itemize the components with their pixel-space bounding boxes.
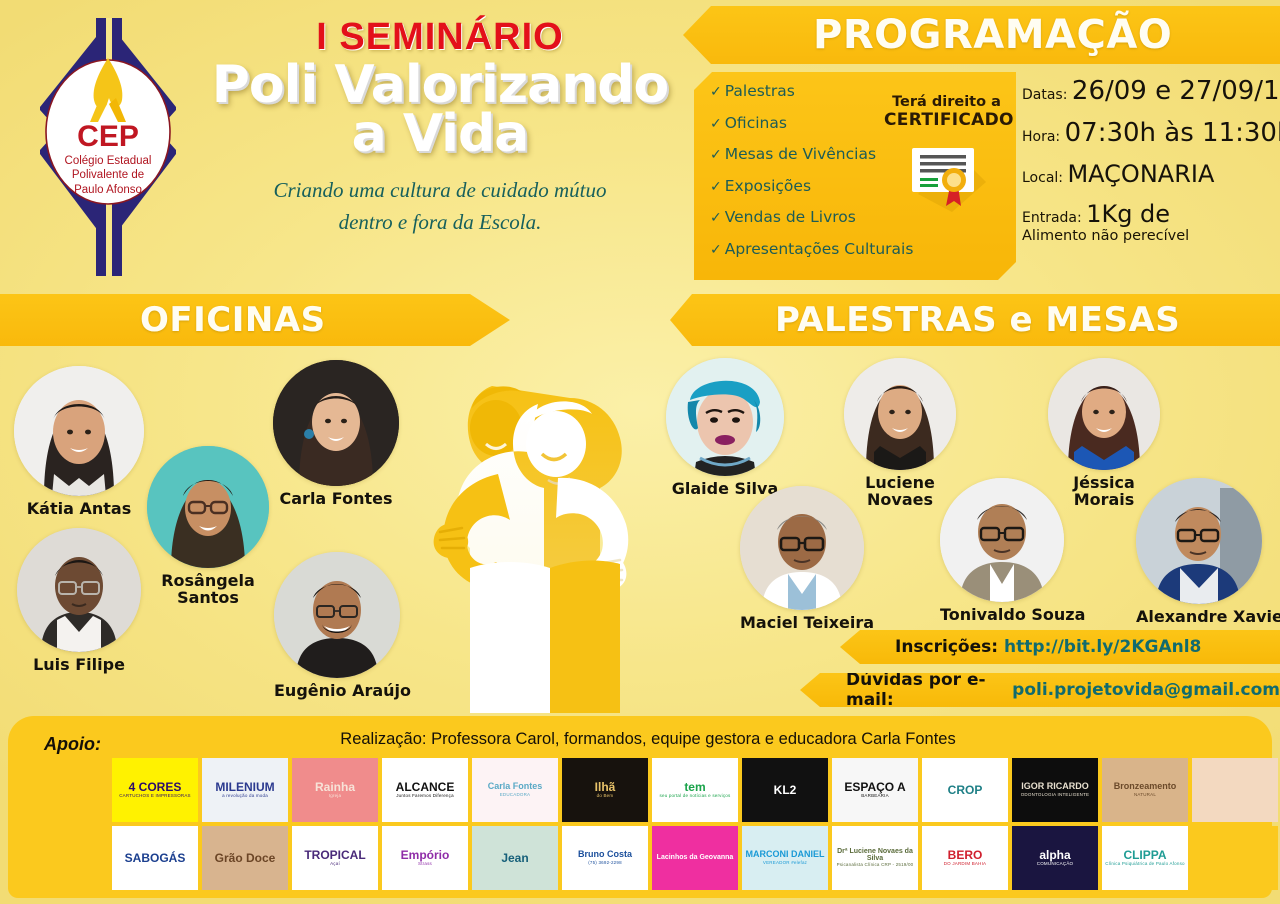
sponsor-logo-sub: Igreja [315, 794, 355, 799]
sponsor-logo-name: Lacinhos da Geovanna [655, 852, 736, 863]
sponsor-logo-sub: seu portal de notícias e serviços [660, 794, 731, 799]
sponsor-logo-sub: Clínica Psiquiátrica de Paulo Afonso [1105, 862, 1185, 867]
title-line-2: a Vida [200, 110, 680, 159]
detail-value: 07:30h às 11:30h [1065, 118, 1280, 148]
list-item-label: Apresentações Culturais [725, 240, 914, 258]
sponsor-logo-name: CLIPPAClínica Psiquiátrica de Paulo Afon… [1103, 847, 1187, 869]
email-link[interactable]: poli.projetovida@gmail.com [1012, 680, 1280, 700]
certificate-line-2: CERTIFICADO [884, 110, 1009, 130]
sponsor-logo: RainhaIgreja [292, 758, 378, 822]
banner-programacao-label: PROGRAMAÇÃO [813, 12, 1172, 58]
event-details: Datas: 26/09 e 27/09/19 Hora: 07:30h às … [1022, 78, 1280, 260]
detail-label: Hora: [1022, 129, 1060, 145]
detail-row-entrada: Entrada: 1Kg de Alimento não perecível [1022, 202, 1280, 244]
person-alexandre-xavier: Alexandre Xavier [1136, 478, 1262, 626]
realizacao-text: Realização: Professora Carol, formandos,… [298, 730, 998, 749]
avatar [740, 486, 864, 610]
person-name: Alexandre Xavier [1136, 609, 1262, 626]
sponsor-logo: IGOR RICARDOODONTOLOGIA INTELIGENTE [1012, 758, 1098, 822]
avatar [274, 552, 400, 678]
sponsor-logo-name: ESPAÇO ABARBEARIA [842, 779, 907, 801]
cep-logo: CEP Colégio Estadual Polivalente de Paul… [8, 12, 208, 280]
list-item-label: Vendas de Livros [725, 208, 856, 226]
check-icon: ✓ [710, 210, 722, 226]
sponsor-logo-name: BronzeamentoNATURAL [1112, 780, 1179, 799]
sponsor-logo-name: Drª Luciene Novaes da SilvaPsicanalista … [832, 846, 918, 870]
list-item: ✓Vendas de Livros [710, 210, 925, 226]
sponsor-logo: SABOGÁS [112, 826, 198, 890]
detail-label: Datas: [1022, 87, 1067, 103]
sponsor-logo: Carla FontesEDUCADORA [472, 758, 558, 822]
poster-root: CEP Colégio Estadual Polivalente de Paul… [0, 0, 1280, 904]
sponsor-logo-name: IGOR RICARDOODONTOLOGIA INTELIGENTE [1019, 780, 1092, 799]
sponsor-logo-sub: DO JARDIM BAHIA [944, 862, 987, 867]
sponsor-logo: BronzeamentoNATURAL [1102, 758, 1188, 822]
sponsor-logo: 4 CORESCARTUCHOS E IMPRESSORAS [112, 758, 198, 822]
person-name: Rosângela Santos [147, 573, 269, 607]
email-bar[interactable]: Dúvidas por e-mail: poli.projetovida@gma… [800, 673, 1280, 707]
avatar [14, 366, 144, 496]
sponsor-logo-sub: COMUNICAÇÃO [1037, 862, 1073, 867]
person-maciel-teixeira: Maciel Teixeira [740, 486, 864, 632]
person-name: Luis Filipe [17, 657, 141, 674]
sponsor-logo: CLIPPAClínica Psiquiátrica de Paulo Afon… [1102, 826, 1188, 890]
sponsor-logo-sub: EDUCADORA [488, 793, 543, 798]
check-icon: ✓ [710, 147, 722, 163]
inscricoes-label: Inscrições: [895, 637, 998, 657]
tagline: Criando uma cultura de cuidado mútuo den… [200, 174, 680, 239]
sponsor-logo: KL2 [742, 758, 828, 822]
sponsor-logo: Jean [472, 826, 558, 890]
sponsor-logo-name: TROPICALAçaí [302, 847, 367, 869]
detail-value: 1Kg de [1086, 200, 1170, 228]
sponsor-logo-sub: VEREADOR #elefaz [746, 861, 825, 866]
sponsor-logo-name: SABOGÁS [123, 850, 188, 867]
person-glaide-silva: Glaide Silva [666, 358, 784, 498]
pretitle: I SEMINÁRIO [200, 16, 680, 59]
sponsor-logo-name: Ilhãdo Bem [593, 779, 618, 801]
list-item-label: Mesas de Vivências [725, 145, 876, 163]
sponsor-logo-name: KL2 [772, 782, 799, 799]
sponsor-logo-name: CROP [946, 782, 985, 799]
avatar [1136, 478, 1262, 604]
sponsor-logo: MILENIUMa revolução da moda [202, 758, 288, 822]
person-eugenio-araujo: Eugênio Araújo [274, 552, 400, 700]
sponsor-logo: ALCANCEJuntos Faremos Diferença [382, 758, 468, 822]
person-katia-antas: Kátia Antas [14, 366, 144, 518]
sponsor-logo: alphaCOMUNICAÇÃO [1012, 826, 1098, 890]
avatar [666, 358, 784, 476]
sponsor-logo-name: MARCONI DANIELVEREADOR #elefaz [744, 848, 827, 867]
sponsor-logo-sub: CARTUCHOS E IMPRESSORAS [119, 794, 191, 799]
sponsor-logo-name [1233, 788, 1237, 792]
sponsor-logo: TROPICALAçaí [292, 826, 378, 890]
sponsor-logo-name [1233, 856, 1237, 860]
sponsor-logo-name: Grão Doce [213, 850, 278, 867]
sponsor-logo-name: temseu portal de notícias e serviços [658, 779, 733, 801]
sponsor-logo-name: BERODO JARDIM BAHIA [942, 847, 989, 869]
detail-row-hora: Hora: 07:30h às 11:30h [1022, 120, 1280, 146]
tagline-line-2: dentro e fora da Escola. [200, 206, 680, 239]
title-block: I SEMINÁRIO Poli Valorizando a Vida Cria… [200, 16, 680, 239]
tagline-line-1: Criando uma cultura de cuidado mútuo [200, 174, 680, 207]
email-label: Dúvidas por e-mail: [846, 670, 1006, 710]
sponsor-logo-sub: (75) 3692-2298 [578, 861, 632, 866]
sponsor-logo-name: Jean [499, 850, 530, 867]
check-icon: ✓ [710, 116, 722, 132]
sponsor-logo: Ilhãdo Bem [562, 758, 648, 822]
person-rosangela-santos: Rosângela Santos [147, 446, 269, 607]
list-item-label: Exposições [725, 177, 811, 195]
list-item-label: Oficinas [725, 114, 787, 132]
avatar [844, 358, 956, 470]
sponsor-logo: Lacinhos da Geovanna [652, 826, 738, 890]
detail-row-datas: Datas: 26/09 e 27/09/19 [1022, 78, 1280, 104]
detail-subvalue: Alimento não perecível [1022, 229, 1280, 244]
person-name: Tonivaldo Souza [940, 607, 1064, 624]
person-name: Carla Fontes [273, 491, 399, 508]
sponsor-logo-name: Bruno Costa(75) 3692-2298 [576, 848, 634, 867]
sponsor-logo: temseu portal de notícias e serviços [652, 758, 738, 822]
sponsor-logo: CROP [922, 758, 1008, 822]
sponsor-logo: Grão Doce [202, 826, 288, 890]
check-icon: ✓ [710, 242, 722, 258]
detail-label: Entrada: [1022, 210, 1082, 226]
certificate-line-1: Terá direito a [884, 94, 1009, 110]
avatar [17, 528, 141, 652]
person-name: Kátia Antas [14, 501, 144, 518]
sponsor-logo-name: Carla FontesEDUCADORA [486, 780, 545, 799]
sponsor-logo: EmpórioStrass [382, 826, 468, 890]
sponsor-logo-name: 4 CORESCARTUCHOS E IMPRESSORAS [117, 779, 193, 801]
sponsor-row-2: SABOGÁSGrão DoceTROPICALAçaíEmpórioStras… [112, 826, 1272, 890]
sponsor-logo: ESPAÇO ABARBEARIA [832, 758, 918, 822]
sponsor-logo-name: alphaCOMUNICAÇÃO [1035, 847, 1075, 869]
sponsor-logo-grid: 4 CORESCARTUCHOS E IMPRESSORASMILENIUMa … [112, 758, 1272, 894]
sponsor-logo: Drª Luciene Novaes da SilvaPsicanalista … [832, 826, 918, 890]
detail-label: Local: [1022, 170, 1063, 186]
sponsor-logo-sub: do Bem [595, 794, 616, 799]
sponsor-logo-sub: Açaí [304, 862, 365, 867]
hug-illustration [430, 368, 680, 713]
detail-value: MAÇONARIA [1067, 160, 1214, 188]
list-item-label: Palestras [725, 82, 795, 100]
check-icon: ✓ [710, 179, 722, 195]
sponsor-row-1: 4 CORESCARTUCHOS E IMPRESSORASMILENIUMa … [112, 758, 1272, 822]
banner-oficinas-label: OFICINAS [140, 300, 326, 340]
sponsor-logo-sub: Juntos Faremos Diferença [396, 794, 455, 799]
person-name: Maciel Teixeira [740, 615, 864, 632]
detail-row-local: Local: MAÇONARIA [1022, 162, 1280, 186]
banner-palestras: PALESTRAS e MESAS [670, 294, 1280, 346]
avatar [147, 446, 269, 568]
sponsor-logo: BERODO JARDIM BAHIA [922, 826, 1008, 890]
person-tonivaldo-souza: Tonivaldo Souza [940, 478, 1064, 624]
sponsor-logo-name: EmpórioStrass [399, 847, 452, 869]
avatar [940, 478, 1064, 602]
sponsor-logo-name: MILENIUMa revolução da moda [213, 779, 276, 801]
sponsor-logo-name: RainhaIgreja [313, 779, 357, 801]
avatar [273, 360, 399, 486]
banner-palestras-label: PALESTRAS e MESAS [775, 300, 1180, 340]
sponsor-logo-sub: Strass [401, 862, 450, 867]
inscricoes-link[interactable]: http://bit.ly/2KGAnl8 [1004, 637, 1201, 657]
apoio-label: Apoio: [44, 734, 101, 755]
sponsor-logo-sub: Psicanalista Clínica CRP - 2519/00 [834, 863, 916, 868]
sponsor-logo [1192, 826, 1278, 890]
avatar [1048, 358, 1160, 470]
banner-oficinas: OFICINAS [0, 294, 510, 346]
sponsor-logo-name: ALCANCEJuntos Faremos Diferença [394, 779, 457, 801]
certificate-callout: Terá direito a CERTIFICADO [884, 94, 1009, 212]
sponsor-logo: MARCONI DANIELVEREADOR #elefaz [742, 826, 828, 890]
footer-sponsors: Apoio: Realização: Professora Carol, for… [8, 716, 1272, 898]
page-title: Poli Valorizando a Vida [200, 61, 680, 160]
certificate-icon [904, 136, 990, 212]
sponsor-logo-sub: ODONTOLOGIA INTELIGENTE [1021, 793, 1090, 798]
list-item: ✓Apresentações Culturais [710, 242, 925, 258]
sponsor-logo-sub: a revolução da moda [215, 794, 274, 799]
person-name: Eugênio Araújo [274, 683, 400, 700]
inscricoes-bar[interactable]: Inscrições: http://bit.ly/2KGAnl8 [840, 630, 1280, 664]
banner-programacao: PROGRAMAÇÃO [683, 6, 1280, 64]
detail-value: 26/09 e 27/09/19 [1072, 76, 1280, 106]
sponsor-logo: Bruno Costa(75) 3692-2298 [562, 826, 648, 890]
check-icon: ✓ [710, 84, 722, 100]
person-carla-fontes: Carla Fontes [273, 360, 399, 508]
programacao-panel: ✓Palestras ✓Oficinas ✓Mesas de Vivências… [694, 72, 1016, 280]
sponsor-logo-sub: NATURAL [1114, 793, 1177, 798]
person-luis-filipe: Luis Filipe [17, 528, 141, 674]
sponsor-logo [1192, 758, 1278, 822]
sponsor-logo-sub: BARBEARIA [844, 794, 905, 799]
